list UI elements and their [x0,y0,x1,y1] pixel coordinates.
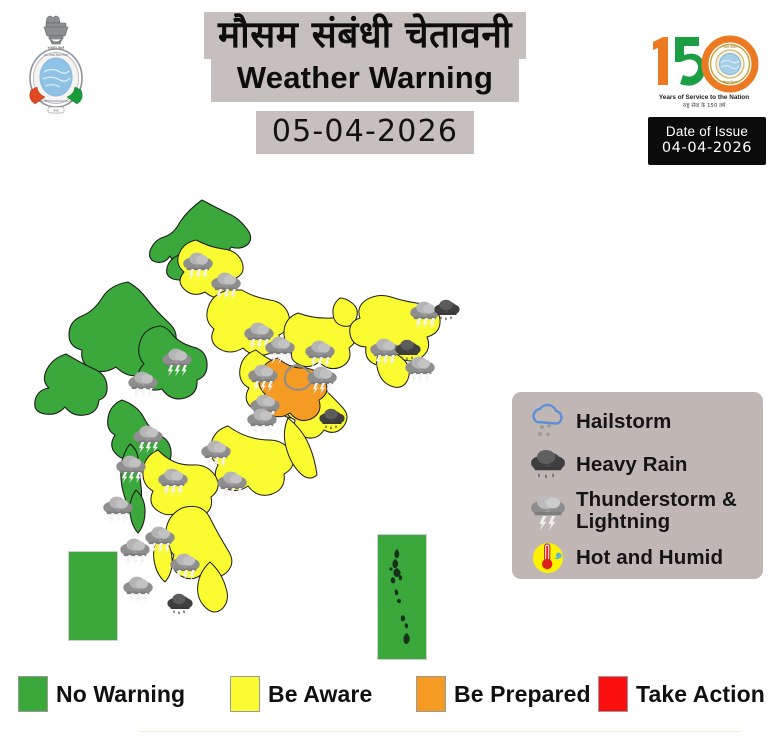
legend-row-thunderstorm: Thunderstorm & Lightning [512,486,763,536]
logo-150-tagline-en: Years of Service to the Nation [659,94,749,101]
svg-text:IMD: IMD [53,109,59,113]
valid-date: 05-04-2026 [256,111,474,154]
svg-text:भारत मौसम: भारत मौसम [723,45,736,49]
swatch-take-action [598,676,628,712]
legend-row-hailstorm: Hailstorm [512,400,763,443]
svg-text:विज्ञान विभाग: विज्ञान विभाग [723,80,738,84]
label-be-aware: Be Aware [268,681,372,708]
lakshadweep-inset [68,551,118,641]
logo-150-tagline-hi: राष्ट्र सेवा के 150 वर्ष [683,102,726,109]
title-block: मौसम संबंधी चेतावनी Weather Warning 05-0… [150,12,580,154]
colour-legend-item-be-prepared: Be Prepared [416,676,591,712]
legend-label-hailstorm: Hailstorm [574,411,671,433]
svg-text:भारत मौसम विज्ञान विभाग: भारत मौसम विज्ञान विभाग [44,53,70,57]
legend-label-heavy-rain: Heavy Rain [574,454,688,476]
swatch-no-warning [18,676,48,712]
page-title-english: Weather Warning [211,57,519,101]
andaman-nicobar-inset [377,534,427,660]
thunderstorm-lightning-icon [522,491,574,531]
legend-row-heavy-rain: Heavy Rain [512,443,763,486]
imd-emblem-logo: सत्यमेव जयते भारत मौसम विज्ञान विभाग IND… [20,12,92,120]
date-of-issue-box: Date of Issue 04-04-2026 [648,117,766,165]
swatch-be-prepared [416,676,446,712]
colour-legend-item-be-aware: Be Aware [230,676,372,712]
label-no-warning: No Warning [56,681,185,708]
warning-colour-legend: No Warning Be Aware Be Prepared Take Act… [18,676,758,716]
page-title-hindi: मौसम संबंधी चेतावनी [204,12,526,59]
legend-label-hot-humid: Hot and Humid [574,547,723,569]
weather-warning-poster: सत्यमेव जयते भारत मौसम विज्ञान विभाग IND… [0,0,768,737]
label-be-prepared: Be Prepared [454,681,591,708]
colour-legend-item-no-warning: No Warning [18,676,185,712]
label-take-action: Take Action [636,681,765,708]
heavy-rain-icon [522,445,574,485]
hot-humid-icon [522,538,574,578]
legend-label-thunderstorm: Thunderstorm & Lightning [574,489,763,532]
weather-icon-legend: Hailstorm Heavy Rain [512,392,763,579]
date-of-issue-label: Date of Issue [666,124,748,140]
colour-legend-item-take-action: Take Action [598,676,765,712]
footer-rule [140,731,740,732]
legend-row-hot-humid: Hot and Humid [512,536,763,579]
logo-150-years: भारत मौसम विज्ञान विभाग Years of Service… [645,22,763,110]
date-of-issue-value: 04-04-2026 [662,140,752,158]
swatch-be-aware [230,676,260,712]
hailstorm-icon [522,402,574,442]
